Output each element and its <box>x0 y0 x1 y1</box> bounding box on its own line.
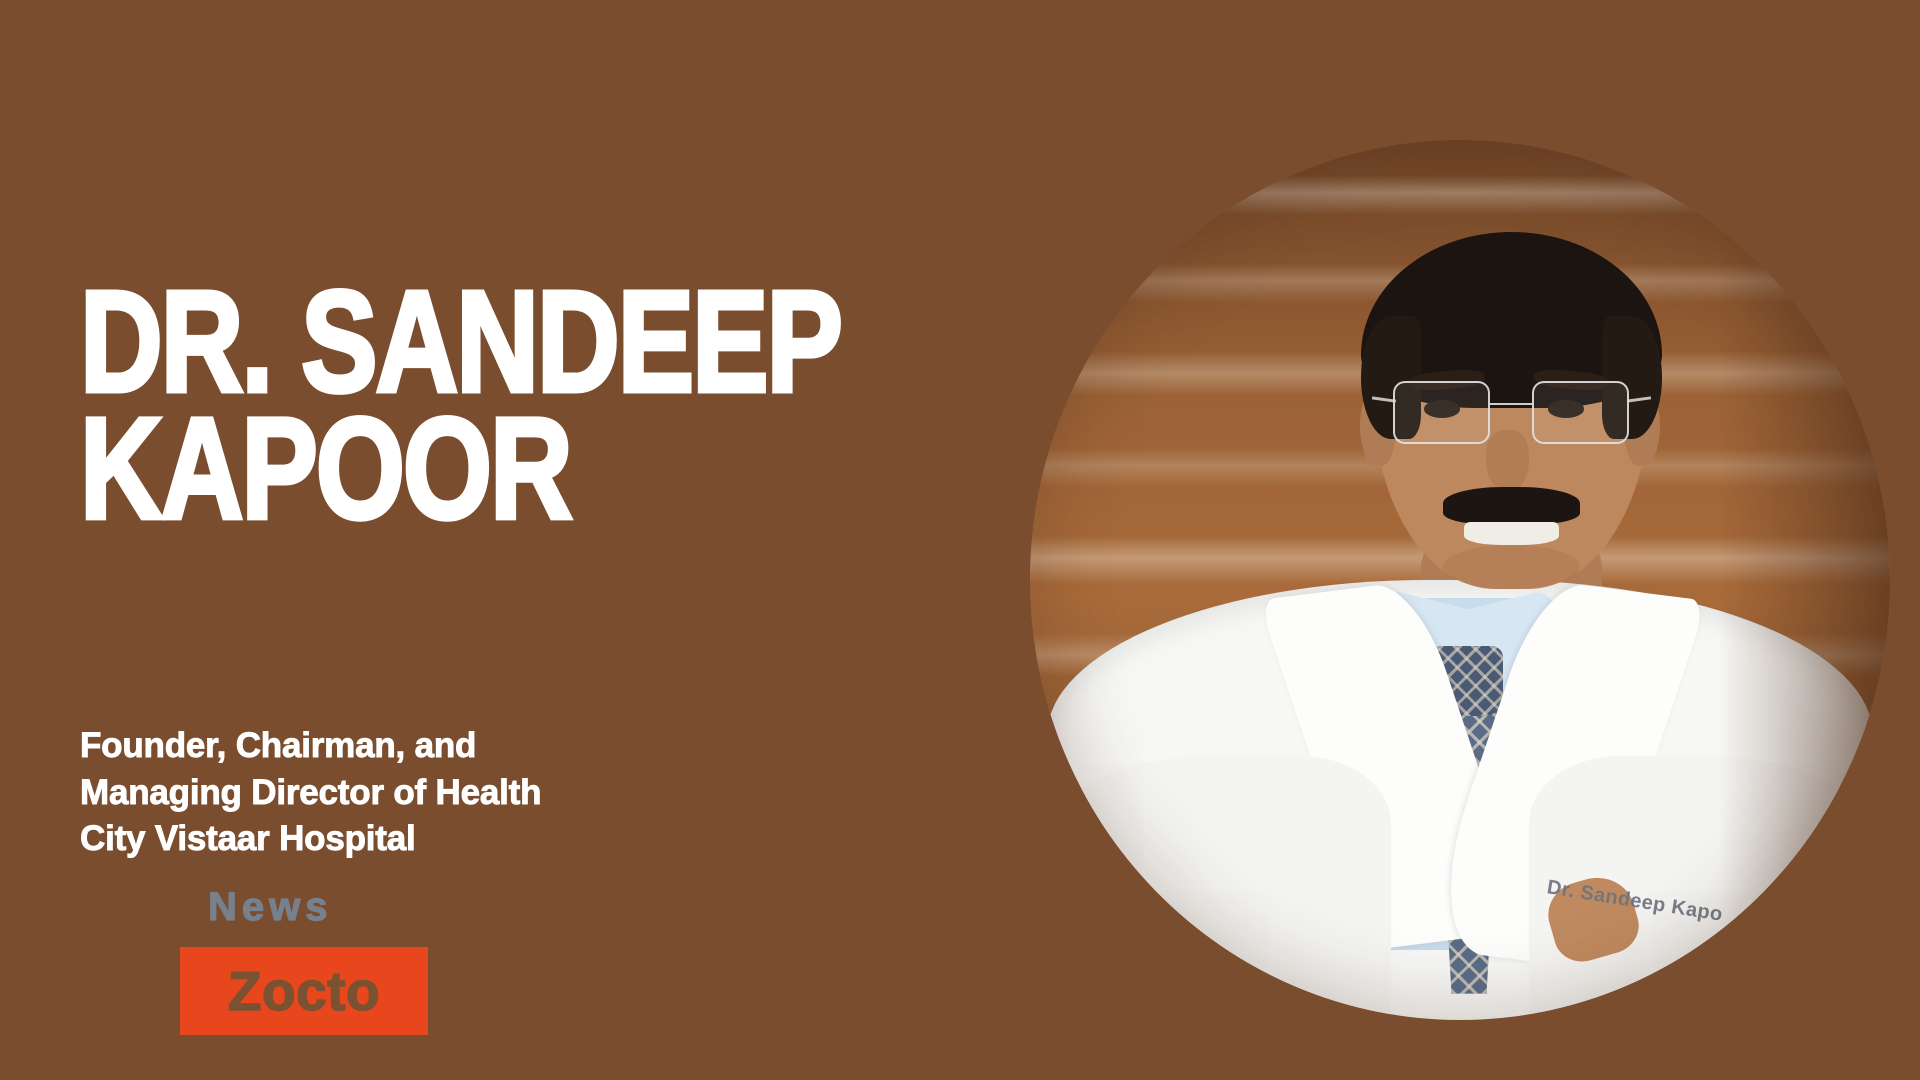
portrait-edge-shading <box>1718 140 1890 1020</box>
chin <box>1443 545 1581 589</box>
arm-left <box>1030 756 1391 1020</box>
logo-news-word: News <box>208 885 333 930</box>
portrait-photo: Dr. Sandeep Kapo <box>1030 140 1890 1020</box>
subtitle-line-1: Founder, Chairman, and <box>80 723 840 770</box>
brand-logo[interactable]: News Zocto <box>100 885 440 1045</box>
logo-orange-box: Zocto <box>180 947 428 1035</box>
moustache <box>1443 487 1581 524</box>
promo-card: DR. SANDEEP KAPOOR Founder, Chairman, an… <box>0 0 1920 1080</box>
nose <box>1486 430 1529 492</box>
headline-line-2: KAPOOR <box>80 407 934 534</box>
page-title: DR. SANDEEP KAPOOR <box>80 280 934 533</box>
eyeglass-lens-right <box>1532 381 1629 444</box>
subtitle-text: Founder, Chairman, and Managing Director… <box>80 723 840 863</box>
subtitle-line-2: Managing Director of Health <box>80 770 840 817</box>
subtitle-line-3: City Vistaar Hospital <box>80 816 840 863</box>
mouth <box>1464 522 1559 545</box>
eyeglass-bridge <box>1490 403 1533 406</box>
eyeglass-lens-left <box>1393 381 1490 444</box>
left-content-column: DR. SANDEEP KAPOOR Founder, Chairman, an… <box>80 0 980 1080</box>
logo-zocto-word: Zocto <box>180 947 428 1035</box>
